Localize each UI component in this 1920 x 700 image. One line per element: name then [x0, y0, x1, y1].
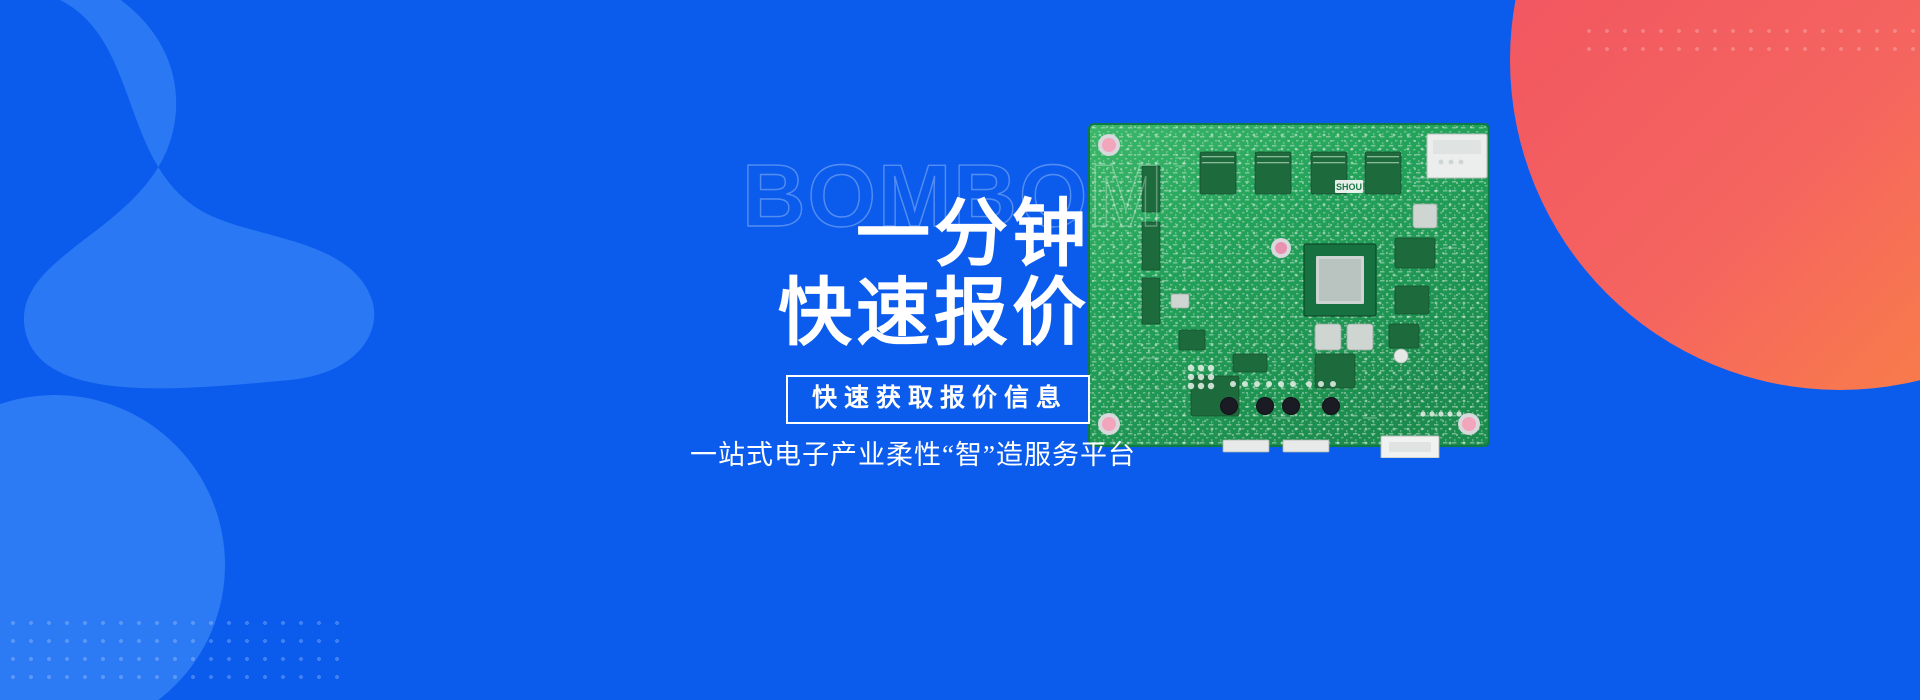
headline-line-1: 一分钟: [690, 196, 1090, 271]
subtitle-text: 一站式电子产业柔性“智”造服务平台: [690, 442, 1090, 469]
pcb-silkscreen-label: SHOU: [1335, 180, 1363, 193]
cta-button[interactable]: 快速获取报价信息: [786, 375, 1090, 424]
copy-block: 一分钟 快速报价 快速获取报价信息 一站式电子产业柔性“智”造服务平台: [690, 196, 1090, 469]
dot-grid-top-right: [1580, 22, 1920, 60]
dot-grid-bottom-left: [4, 614, 344, 688]
svg-text:SHOU: SHOU: [1336, 182, 1362, 192]
cta-button-label: 快速获取报价信息: [812, 386, 1068, 411]
headline-line-2: 快速报价: [690, 275, 1090, 350]
promo-banner: SHOU BOMBOM 一分钟 快速报价 快速获取报价信息 一站式电子产业柔性“…: [0, 0, 1920, 700]
